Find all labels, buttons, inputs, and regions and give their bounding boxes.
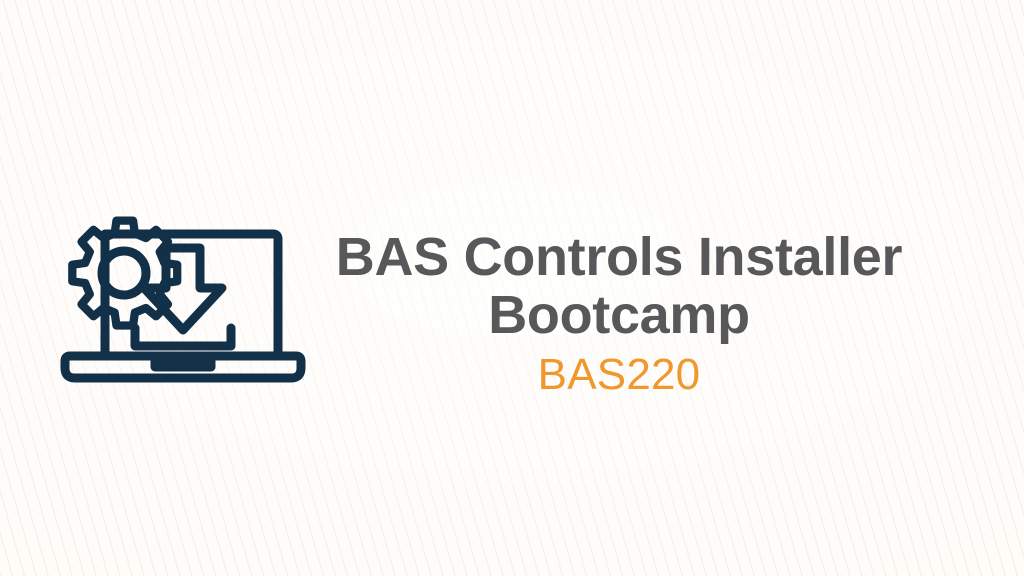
slide-text-block: BAS Controls Installer Bootcamp BAS220 [312, 228, 926, 397]
laptop-download-gear-icon [58, 206, 308, 402]
page-title: BAS Controls Installer Bootcamp [312, 228, 926, 345]
title-slide: BAS Controls Installer Bootcamp BAS220 [0, 0, 1024, 576]
course-code-label: BAS220 [312, 353, 926, 397]
slide-content: BAS Controls Installer Bootcamp BAS220 [0, 0, 1024, 576]
laptop-trackpad-notch [155, 358, 211, 367]
